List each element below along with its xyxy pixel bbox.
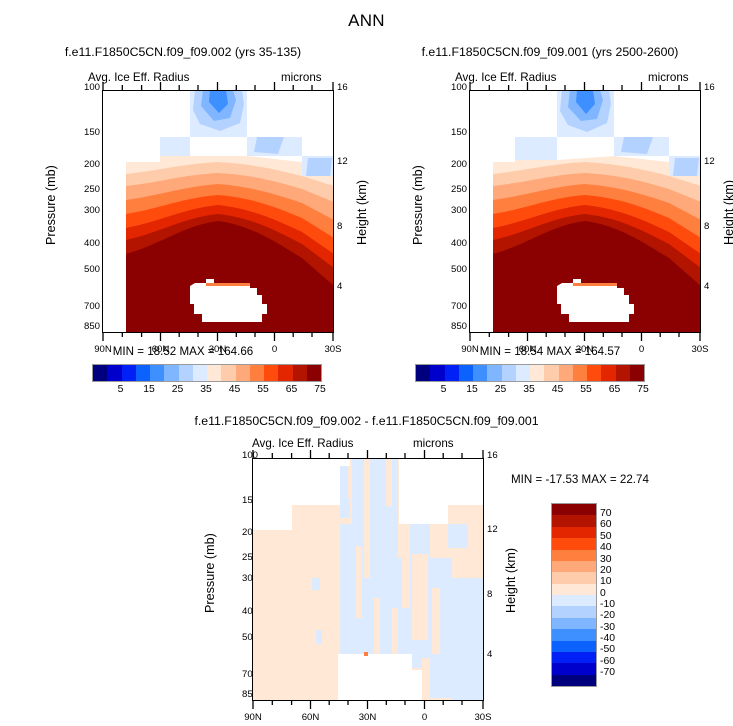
panel-right-plot[interactable] [469, 90, 701, 333]
panel-right: f.e11.F1850C5CN.f09_f09.001 (yrs 2500-26… [367, 0, 733, 400]
panel-right-minmax: MIN = 18.54 MAX = 164.57 [367, 345, 733, 358]
colorbar-right-swatch [630, 365, 644, 381]
colorbar-diff-swatch [552, 550, 596, 561]
panel-left-plot[interactable] [102, 90, 334, 333]
colorbar-left-swatch [93, 365, 107, 381]
panel-diff-colorbar-labels: 70 60 50 40 30 20 10 0 -10 -20 -30 -40 -… [600, 503, 640, 685]
panel-diff-title: f.e11.F1850C5CN.f09_f09.002 - f.e11.F185… [0, 414, 733, 428]
colorbar-right-swatch [430, 365, 444, 381]
colorbar-left-swatch [207, 365, 221, 381]
colorbar-right-swatch [573, 365, 587, 381]
colorbar-diff-swatch [552, 606, 596, 617]
panel-right-bottom-ticks [469, 333, 702, 343]
colorbar-right-swatch [416, 365, 430, 381]
colorbar-left-swatch [179, 365, 193, 381]
colorbar-left-swatch [221, 365, 235, 381]
colorbar-diff-swatch [552, 675, 596, 686]
panel-diff-y-axis-title: Pressure (mb) [203, 533, 217, 613]
colorbar-left-swatch [293, 365, 307, 381]
colorbar-right-swatch [544, 365, 558, 381]
panel-left-bottom-ticks [102, 333, 335, 343]
panel-right-colorbar-labels: 5 15 25 35 45 55 65 75 [415, 384, 645, 398]
colorbar-right-swatch [445, 365, 459, 381]
colorbar-left-swatch [136, 365, 150, 381]
panel-left-y-ticklabels: 100 150 200 250 300 400 500 700 850 [60, 88, 100, 333]
colorbar-diff-swatch [552, 515, 596, 526]
colorbar-right-swatch [516, 365, 530, 381]
panel-right-top-ticks [469, 78, 702, 91]
panel-left-colorbar[interactable] [92, 364, 322, 382]
colorbar-diff-swatch [552, 527, 596, 538]
panel-right-contour-field [469, 90, 701, 333]
panel-right-title: f.e11.F1850C5CN.f09_f09.001 (yrs 2500-26… [367, 45, 733, 59]
panel-diff-colorbar[interactable] [551, 503, 597, 687]
colorbar-diff-swatch [552, 663, 596, 674]
panel-right-y-axis-title: Pressure (mb) [411, 165, 425, 245]
colorbar-right-swatch [616, 365, 630, 381]
panel-left-y-axis-title: Pressure (mb) [44, 165, 58, 245]
colorbar-right-swatch [459, 365, 473, 381]
colorbar-diff-swatch [552, 572, 596, 583]
colorbar-right-swatch [487, 365, 501, 381]
colorbar-diff-swatch [552, 538, 596, 549]
colorbar-diff-swatch [552, 584, 596, 595]
colorbar-left-swatch [264, 365, 278, 381]
panel-diff-bottom-ticks [252, 701, 485, 711]
colorbar-diff-swatch [552, 629, 596, 640]
colorbar-diff-swatch [552, 504, 596, 515]
panel-right-y-ticklabels: 100 150 200 250 300 400 500 700 850 [427, 88, 467, 333]
panel-diff-plot[interactable] [252, 458, 484, 701]
colorbar-right-swatch [587, 365, 601, 381]
colorbar-left-swatch [236, 365, 250, 381]
colorbar-left-swatch [193, 365, 207, 381]
colorbar-right-swatch [559, 365, 573, 381]
colorbar-left-swatch [164, 365, 178, 381]
panel-diff-x-ticklabels: 90N 60N 30N 0 30S [252, 712, 485, 726]
panel-left-title: f.e11.F1850C5CN.f09_f09.002 (yrs 35-135) [0, 45, 366, 59]
colorbar-right-swatch [601, 365, 615, 381]
panel-diff: f.e11.F1850C5CN.f09_f09.002 - f.e11.F185… [0, 405, 733, 712]
panel-left-minmax: MIN = 18.52 MAX = 164.66 [0, 345, 366, 358]
colorbar-right-swatch [502, 365, 516, 381]
panel-left-y2-ticklabels: 16 12 8 4 [337, 88, 361, 333]
colorbar-right-swatch [530, 365, 544, 381]
colorbar-left-swatch [278, 365, 292, 381]
panel-left: f.e11.F1850C5CN.f09_f09.002 (yrs 35-135)… [0, 0, 366, 400]
colorbar-diff-swatch [552, 595, 596, 606]
panel-right-colorbar[interactable] [415, 364, 645, 382]
colorbar-diff-swatch [552, 618, 596, 629]
colorbar-left-swatch [107, 365, 121, 381]
panel-diff-contour-field [252, 458, 484, 701]
panel-left-contour-field [102, 90, 334, 333]
panel-diff-top-ticks [252, 446, 485, 459]
colorbar-diff-swatch [552, 561, 596, 572]
panel-left-colorbar-labels: 5 15 25 35 45 55 65 75 [92, 384, 322, 398]
colorbar-left-swatch [150, 365, 164, 381]
colorbar-left-swatch [122, 365, 136, 381]
colorbar-diff-swatch [552, 652, 596, 663]
colorbar-left-swatch [307, 365, 321, 381]
panel-diff-minmax: MIN = -17.53 MAX = 22.74 [511, 473, 649, 486]
panel-diff-y2-ticklabels: 16 12 8 4 [487, 456, 511, 701]
panel-left-top-ticks [102, 78, 335, 91]
colorbar-diff-swatch [552, 641, 596, 652]
panel-right-y2-ticklabels: 16 12 8 4 [704, 88, 728, 333]
colorbar-left-swatch [250, 365, 264, 381]
colorbar-right-swatch [473, 365, 487, 381]
